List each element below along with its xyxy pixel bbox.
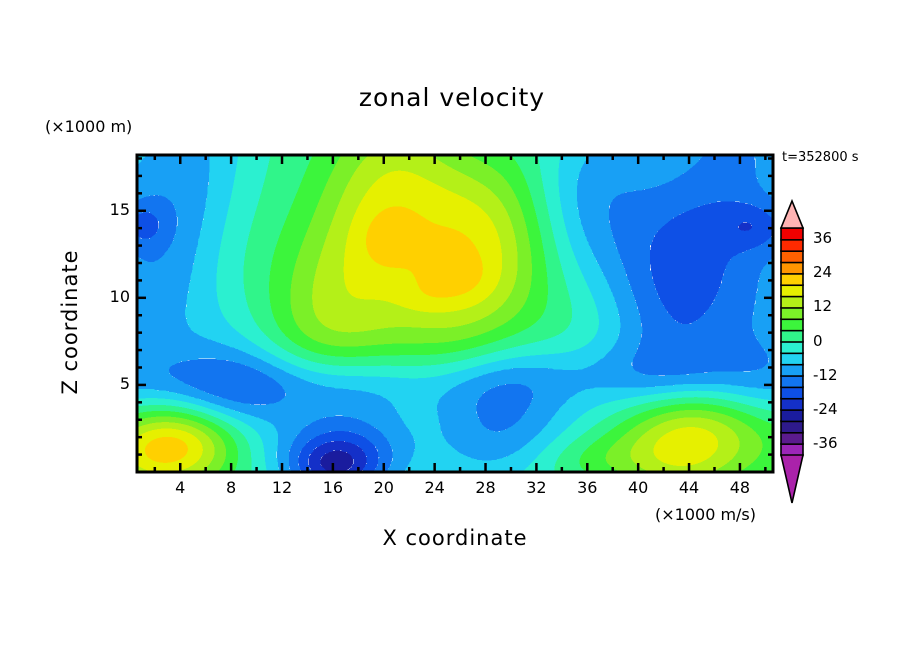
colorbar-cell xyxy=(781,387,803,399)
colorbar-cell xyxy=(781,228,803,240)
colorbar-cell xyxy=(781,421,803,433)
colorbar-cell xyxy=(781,444,803,456)
colorbar-under-arrow xyxy=(781,455,803,503)
colorbar-cell xyxy=(781,262,803,274)
colorbar-cell xyxy=(781,376,803,388)
colorbar-cell xyxy=(781,296,803,308)
colorbar-over-arrow xyxy=(781,201,803,228)
colorbar-cell xyxy=(781,364,803,376)
colorbar-cell xyxy=(781,398,803,410)
colorbar-cell xyxy=(781,285,803,297)
colorbar-cell xyxy=(781,342,803,354)
colorbar-cell xyxy=(781,319,803,331)
contour-plot xyxy=(0,0,904,654)
colorbar-cell xyxy=(781,330,803,342)
colorbar-cell xyxy=(781,251,803,263)
colorbar-cell xyxy=(781,239,803,251)
colorbar-cell xyxy=(781,273,803,285)
contour-field xyxy=(137,155,773,472)
colorbar-cell xyxy=(781,307,803,319)
colorbar xyxy=(781,201,803,503)
chart-canvas: zonal velocity (×1000 m) t=352800 s (×10… xyxy=(0,0,904,654)
colorbar-cell xyxy=(781,353,803,365)
colorbar-cell xyxy=(781,410,803,422)
colorbar-cell xyxy=(781,432,803,444)
